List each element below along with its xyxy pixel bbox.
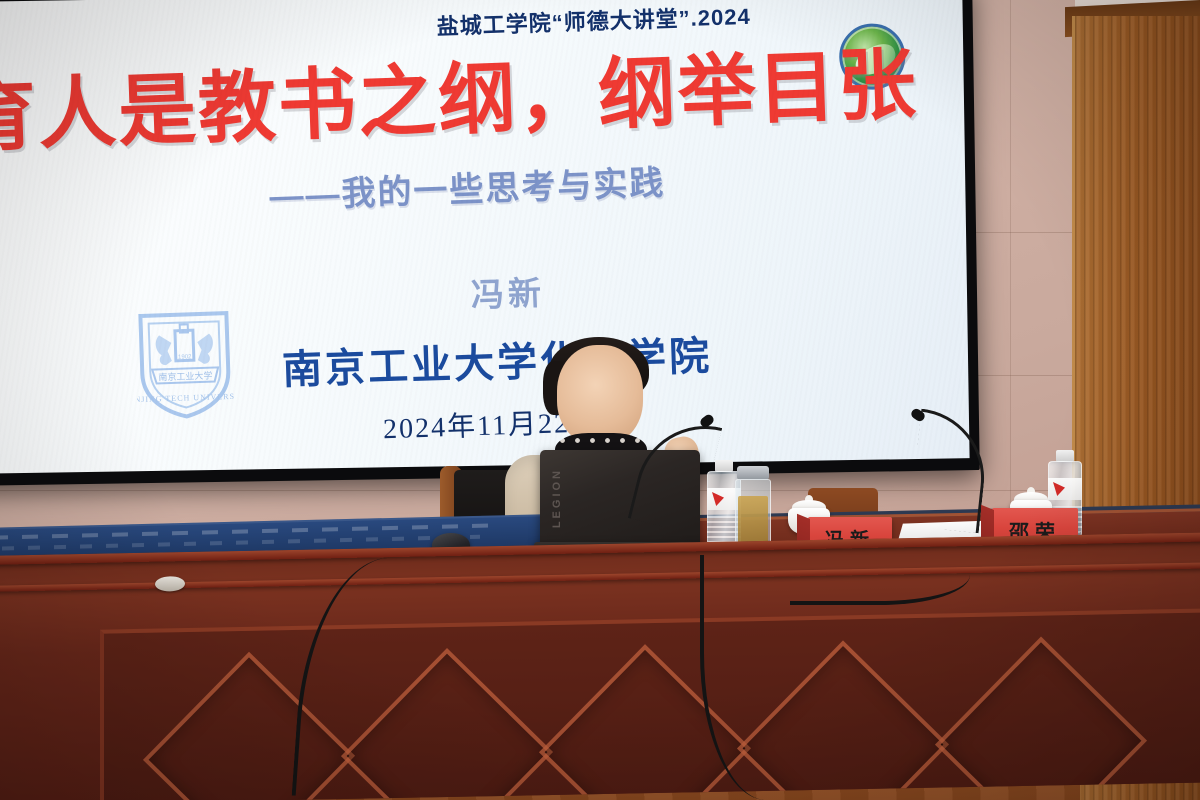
crest-chinese-name: 南京工业大学	[158, 370, 212, 383]
yancheng-institute-logo-icon	[838, 23, 906, 91]
projection-screen: 盐城工学院“师德大讲堂”.2024 育人是教书之纲，纲举目张 ——我的一些思考与…	[0, 0, 970, 474]
podium-panel	[100, 609, 1200, 800]
podium-badge	[155, 576, 185, 592]
thermos-tea	[738, 496, 768, 544]
laptop-brand-label: LEGION	[551, 468, 563, 528]
slide-subtitle: ——我的一些思考与实践	[269, 155, 666, 218]
slide-speaker-name: 冯新	[470, 266, 546, 316]
podium-diamond-ornament	[935, 637, 1147, 800]
bottle-label	[1048, 478, 1082, 500]
lecture-hall-photo: 盐城工学院“师德大讲堂”.2024 育人是教书之纲，纲举目张 ——我的一些思考与…	[0, 0, 1200, 800]
nanjing-tech-university-crest-icon: 南京工业大学 NANJING TECH UNIVERSITY 1902	[134, 307, 236, 422]
thermos-lid	[737, 466, 769, 480]
projection-screen-frame: 盐城工学院“师德大讲堂”.2024 育人是教书之纲，纲举目张 ——我的一些思考与…	[0, 0, 980, 486]
presentation-slide: 盐城工学院“师德大讲堂”.2024 育人是教书之纲，纲举目张 ——我的一些思考与…	[0, 0, 970, 474]
power-cable	[790, 545, 970, 605]
speaker-head	[557, 345, 643, 445]
crest-english-name: NANJING TECH UNIVERSITY	[134, 391, 236, 404]
wooden-podium	[0, 532, 1200, 800]
crest-year: 1902	[178, 354, 192, 360]
slide-main-title: 育人是教书之纲，纲举目张	[0, 42, 919, 160]
slide-header-text: 盐城工学院“师德大讲堂”.2024	[436, 0, 751, 41]
